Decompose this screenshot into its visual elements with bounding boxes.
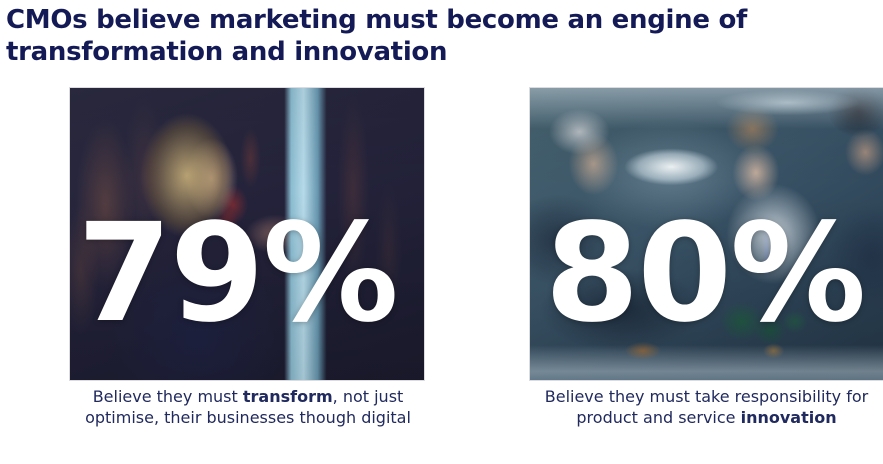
caption-emphasis: transform [243, 387, 333, 406]
caption-text-before: Believe they must [93, 387, 243, 406]
stat-card-innovation: 80% Believe they must take responsibilit… [530, 88, 883, 380]
stat-card-transform: 79% Believe they must transform, not jus… [70, 88, 424, 380]
stat-photo-innovation: 80% [530, 88, 883, 380]
stat-photo-transform: 79% [70, 88, 424, 380]
caption-emphasis: innovation [741, 408, 837, 427]
stat-value-innovation: 80% [532, 206, 877, 342]
stat-caption-transform: Believe they must transform, not just op… [72, 386, 424, 428]
page-title: CMOs believe marketing must become an en… [6, 4, 866, 68]
stat-value-transform: 79% [70, 206, 408, 342]
stat-caption-innovation: Believe they must take responsibility fo… [530, 386, 883, 428]
